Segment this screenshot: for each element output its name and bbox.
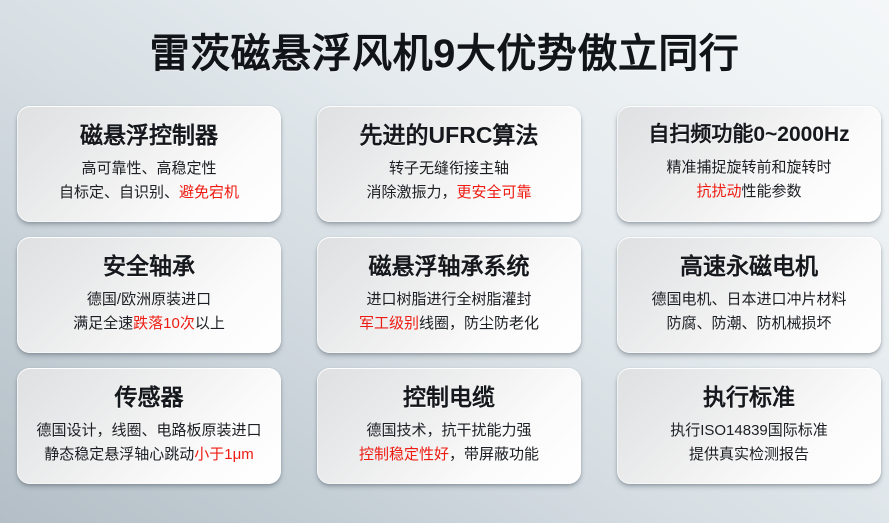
highlight-text: 控制稳定性好: [359, 446, 449, 463]
card-title: 磁悬浮轴承系统: [369, 253, 530, 279]
card-title: 自扫频功能0~2000Hz: [648, 123, 849, 147]
plain-text: 静态稳定悬浮轴心跳动: [44, 446, 194, 463]
advantage-card-auto-frequency-sweep[interactable]: 自扫频功能0~2000Hz精准捕捉旋转前和旋转时抗扰动性能参数: [617, 106, 881, 222]
card-description: 德国技术，抗干扰能力强控制稳定性好，带屏蔽功能: [359, 419, 539, 466]
card-description-line-2: 抗扰动性能参数: [666, 180, 831, 203]
page-title: 雷茨磁悬浮风机9大优势傲立同行: [150, 21, 740, 79]
card-description: 进口树脂进行全树脂灌封军工级别线圈，防尘防老化: [359, 288, 539, 335]
highlight-text: 跌落10次: [133, 315, 195, 332]
card-description-line-2: 满足全速跌落10次以上: [73, 312, 225, 335]
plain-text: 德国电机、日本进口冲片材料: [651, 291, 846, 308]
highlight-text: 军工级别: [359, 315, 419, 332]
card-title: 安全轴承: [103, 253, 195, 279]
plain-text: 执行ISO14839国际标准: [670, 422, 828, 439]
card-title: 高速永磁电机: [680, 253, 818, 279]
card-description-line-2: 消除激振力，更安全可靠: [366, 181, 531, 204]
plain-text: 精准捕捉旋转前和旋转时: [666, 159, 831, 176]
card-description-line-2: 控制稳定性好，带屏蔽功能: [359, 443, 539, 466]
advantage-card-magnetic-suspension-controller[interactable]: 磁悬浮控制器高可靠性、高稳定性自标定、自识别、避免宕机: [17, 106, 281, 222]
advantage-card-advanced-ufrc-algorithm[interactable]: 先进的UFRC算法转子无缝衔接主轴消除激振力，更安全可靠: [317, 106, 581, 222]
card-title: 传感器: [115, 384, 184, 410]
advantage-card-sensor[interactable]: 传感器德国设计，线圈、电路板原装进口静态稳定悬浮轴心跳动小于1μm: [17, 368, 281, 484]
advantage-card-execution-standard[interactable]: 执行标准执行ISO14839国际标准提供真实检测报告: [617, 368, 881, 484]
plain-text: 性能参数: [741, 183, 801, 200]
plain-text: 德国技术，抗干扰能力强: [366, 422, 531, 439]
card-description-line-2: 防腐、防潮、防机械损坏: [651, 312, 846, 335]
card-title: 控制电缆: [403, 384, 495, 410]
plain-text: 提供真实检测报告: [689, 446, 809, 463]
highlight-text: 避免宕机: [179, 184, 239, 201]
promo-banner: 雷茨磁悬浮风机9大优势傲立同行 磁悬浮控制器高可靠性、高稳定性自标定、自识别、避…: [0, 0, 889, 523]
advantage-card-safety-bearing[interactable]: 安全轴承德国/欧洲原装进口满足全速跌落10次以上: [17, 237, 281, 353]
plain-text: 德国/欧洲原装进口: [87, 291, 211, 308]
highlight-text: 更安全可靠: [457, 184, 532, 201]
plain-text: 自标定、自识别、: [59, 184, 179, 201]
plain-text: 转子无缝衔接主轴: [389, 160, 509, 177]
plain-text: 德国设计，线圈、电路板原装进口: [36, 422, 261, 439]
plain-text: ，带屏蔽功能: [449, 446, 539, 463]
card-description-line-2: 军工级别线圈，防尘防老化: [359, 312, 539, 335]
card-description-line-1: 德国技术，抗干扰能力强: [359, 419, 539, 442]
card-description-line-2: 自标定、自识别、避免宕机: [59, 181, 239, 204]
highlight-text: 抗扰动: [696, 183, 741, 200]
card-description: 德国/欧洲原装进口满足全速跌落10次以上: [73, 288, 225, 335]
card-description-line-1: 高可靠性、高稳定性: [59, 157, 239, 180]
card-description-line-2: 提供真实检测报告: [670, 443, 828, 466]
plain-text: 防腐、防潮、防机械损坏: [666, 315, 831, 332]
card-description: 转子无缝衔接主轴消除激振力，更安全可靠: [366, 157, 531, 204]
card-description-line-1: 德国设计，线圈、电路板原装进口: [36, 419, 261, 442]
advantage-card-grid: 磁悬浮控制器高可靠性、高稳定性自标定、自识别、避免宕机先进的UFRC算法转子无缝…: [17, 106, 881, 488]
card-description-line-1: 执行ISO14839国际标准: [670, 419, 828, 442]
card-description: 执行ISO14839国际标准提供真实检测报告: [670, 419, 828, 466]
card-description: 德国电机、日本进口冲片材料防腐、防潮、防机械损坏: [651, 288, 846, 335]
plain-text: 进口树脂进行全树脂灌封: [366, 291, 531, 308]
advantage-card-high-speed-pm-motor[interactable]: 高速永磁电机德国电机、日本进口冲片材料防腐、防潮、防机械损坏: [617, 237, 881, 353]
card-description: 高可靠性、高稳定性自标定、自识别、避免宕机: [59, 157, 239, 204]
card-description-line-1: 转子无缝衔接主轴: [366, 157, 531, 180]
card-description: 精准捕捉旋转前和旋转时抗扰动性能参数: [666, 156, 831, 203]
plain-text: 消除激振力，: [366, 184, 456, 201]
card-title: 执行标准: [703, 384, 795, 410]
card-description: 德国设计，线圈、电路板原装进口静态稳定悬浮轴心跳动小于1μm: [36, 419, 261, 466]
card-description-line-1: 德国/欧洲原装进口: [73, 288, 225, 311]
plain-text: 满足全速: [73, 315, 133, 332]
card-description-line-1: 进口树脂进行全树脂灌封: [359, 288, 539, 311]
card-description-line-1: 精准捕捉旋转前和旋转时: [666, 156, 831, 179]
highlight-text: 小于1μm: [194, 446, 253, 463]
page-title-area: 雷茨磁悬浮风机9大优势傲立同行: [0, 0, 889, 100]
advantage-card-magnetic-bearing-system[interactable]: 磁悬浮轴承系统进口树脂进行全树脂灌封军工级别线圈，防尘防老化: [317, 237, 581, 353]
plain-text: 以上: [195, 315, 225, 332]
advantage-card-control-cable[interactable]: 控制电缆德国技术，抗干扰能力强控制稳定性好，带屏蔽功能: [317, 368, 581, 484]
card-description-line-2: 静态稳定悬浮轴心跳动小于1μm: [36, 443, 261, 466]
card-description-line-1: 德国电机、日本进口冲片材料: [651, 288, 846, 311]
card-title: 磁悬浮控制器: [80, 122, 218, 148]
plain-text: 高可靠性、高稳定性: [81, 160, 216, 177]
card-title: 先进的UFRC算法: [360, 122, 539, 148]
plain-text: 线圈，防尘防老化: [419, 315, 539, 332]
